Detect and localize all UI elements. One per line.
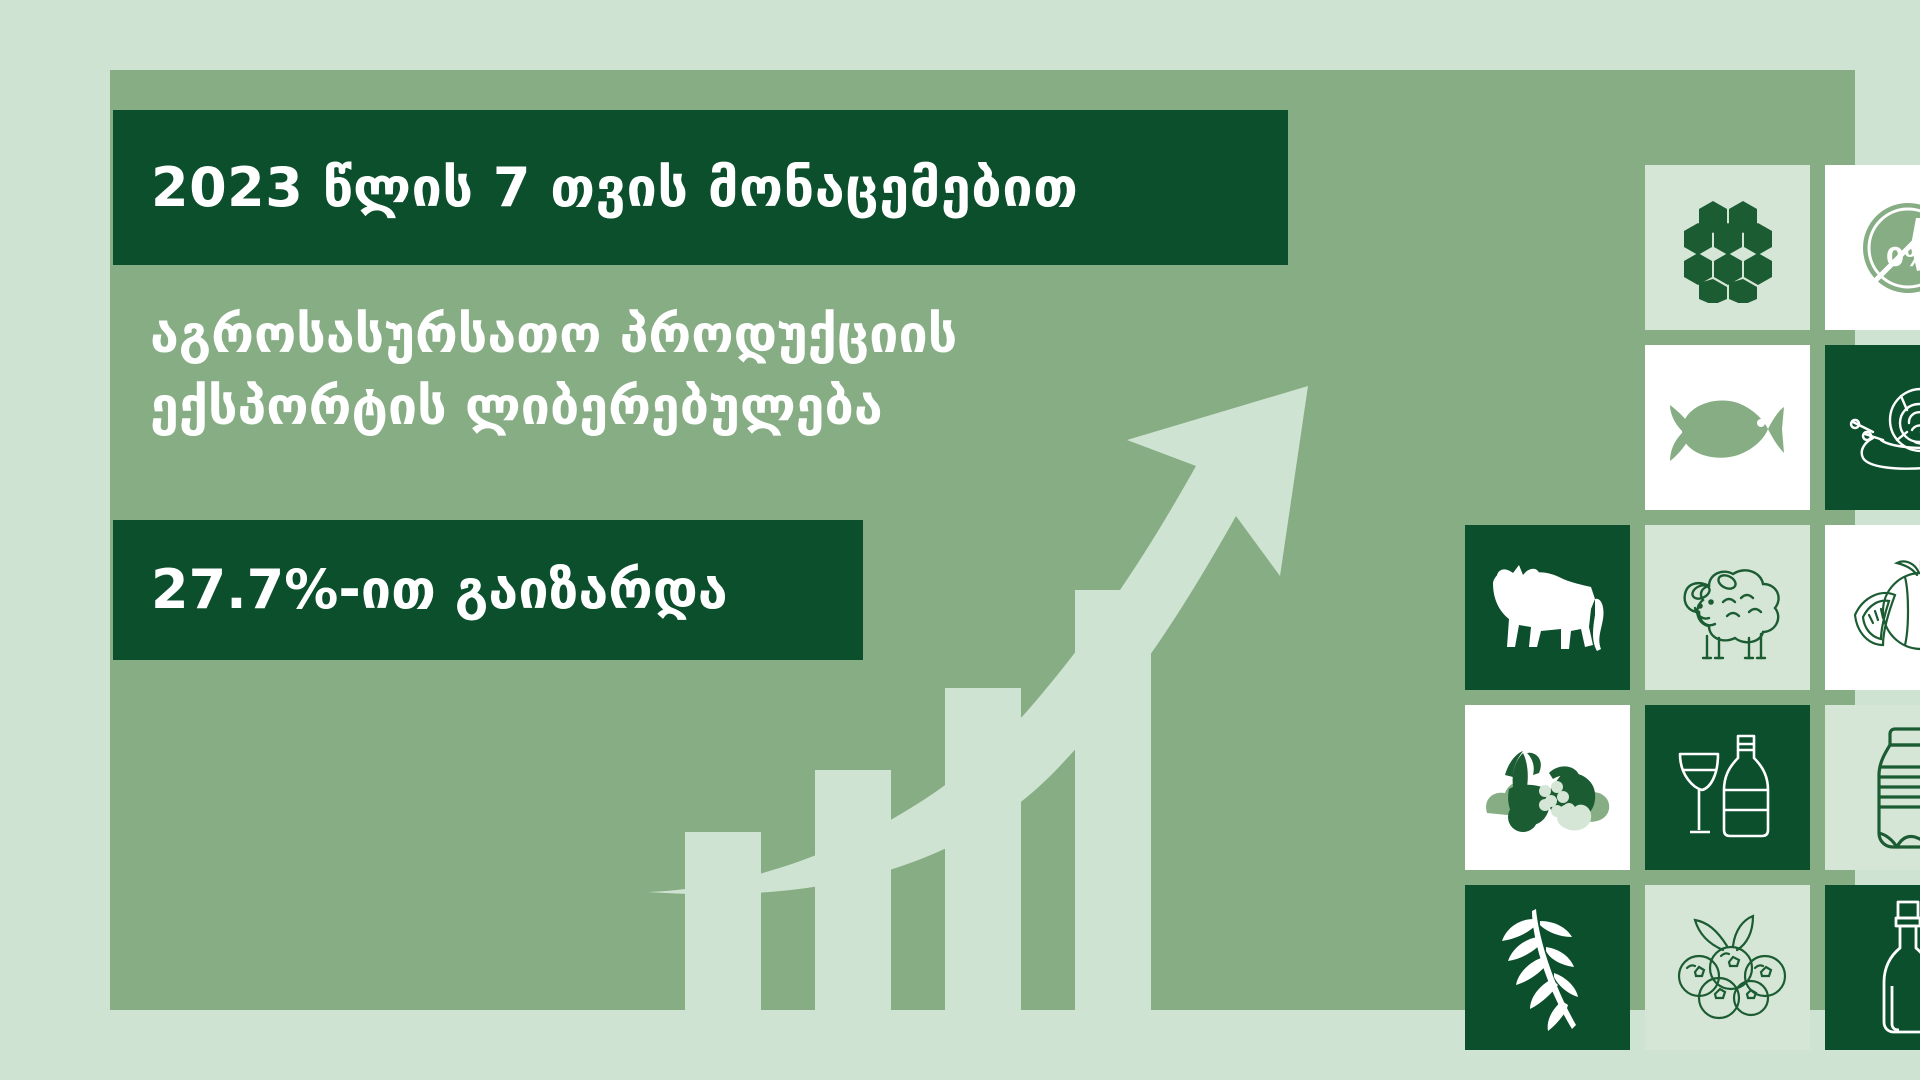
- wine-bottle-glass-icon: [1668, 728, 1788, 848]
- tarragon-herb-icon: [1488, 903, 1608, 1033]
- tile-cow: [1465, 525, 1630, 690]
- cow-icon: [1485, 553, 1610, 663]
- tile-tarragon: [1465, 885, 1630, 1050]
- fish-icon: [1668, 383, 1788, 473]
- title-banner: 2023 წლის 7 თვის მონაცემებით: [113, 110, 1288, 265]
- zero-percent-label: 0%: [1886, 243, 1920, 273]
- tile-fruits: [1465, 705, 1630, 870]
- zero-percent-bottle-icon: 0%: [1848, 188, 1920, 308]
- tile-melon: [1825, 525, 1920, 690]
- tile-wine: [1645, 705, 1810, 870]
- tile-honeycomb: [1645, 165, 1810, 330]
- infographic-canvas: 0%: [0, 0, 1920, 1080]
- fruits-basket-icon: [1483, 733, 1613, 843]
- tile-snail: [1825, 345, 1920, 510]
- melon-icon: [1845, 553, 1920, 663]
- tile-fish: [1645, 345, 1810, 510]
- subtitle-line-1: აგროსასურსათო პროდუქციის: [150, 300, 1270, 372]
- highlight-badge: 27.7%-ით გაიზარდა: [113, 520, 863, 660]
- blueberries-icon: [1663, 910, 1793, 1025]
- tile-glass-bottle: [1825, 885, 1920, 1050]
- glass-bottle-icon: [1868, 898, 1920, 1038]
- snail-icon: [1843, 378, 1920, 478]
- tile-water-bottle: [1825, 705, 1920, 870]
- tile-blueberries: [1645, 885, 1810, 1050]
- water-bottle-icon: [1863, 723, 1920, 853]
- product-icon-mosaic: 0%: [1390, 165, 1920, 1075]
- subtitle-block: აგროსასურსათო პროდუქციის ექსპორტის ლიბერ…: [150, 300, 1270, 444]
- tile-sheep: [1645, 525, 1810, 690]
- subtitle-line-2: ექსპორტის ლიბერებულება: [150, 372, 1270, 444]
- highlight-text: 27.7%-ით გაიზარდა: [113, 563, 728, 617]
- page-title: 2023 წლის 7 თვის მონაცემებით: [113, 161, 1078, 215]
- sheep-icon: [1665, 550, 1790, 665]
- tile-no-alcohol: 0%: [1825, 165, 1920, 330]
- honeycomb-icon: [1673, 193, 1783, 303]
